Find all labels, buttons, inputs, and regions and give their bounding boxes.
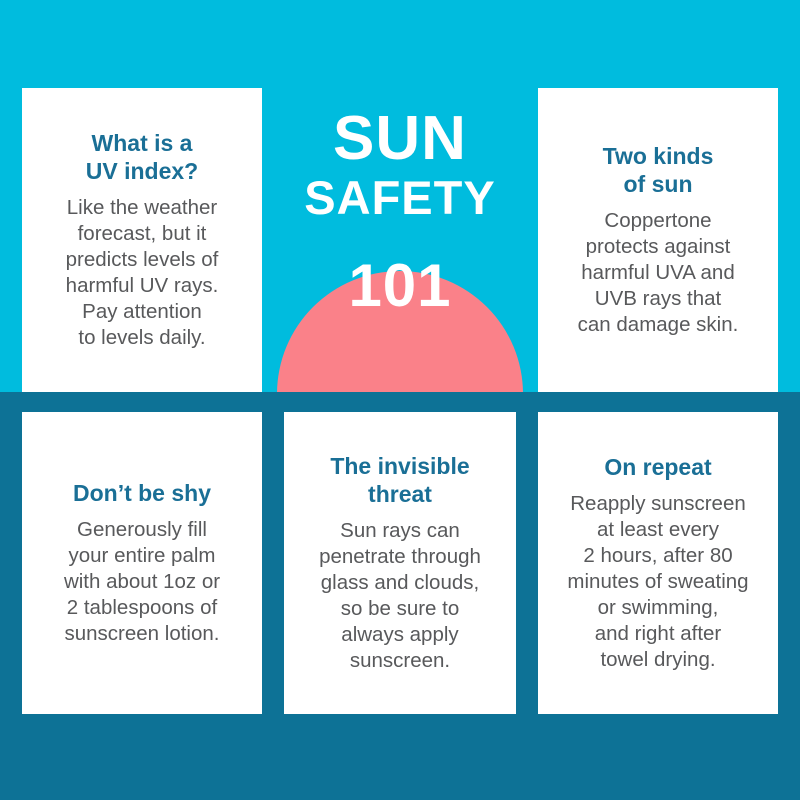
card-uv-index: What is a UV index? Like the weather for… xyxy=(22,88,262,392)
sun-safety-infographic: SUN SAFETY 101 What is a UV index? Like … xyxy=(0,0,800,800)
heading-line: threat xyxy=(330,480,469,508)
card-invisible-threat-heading: The invisible threat xyxy=(330,452,469,508)
card-invisible-threat-body: Sun rays can penetrate through glass and… xyxy=(319,518,481,674)
card-uv-index-heading: What is a UV index? xyxy=(86,129,198,185)
masthead-line-safety: SAFETY xyxy=(262,169,538,228)
body-line: harmful UVA and xyxy=(578,260,739,286)
body-line: and right after xyxy=(567,621,748,647)
body-line: glass and clouds, xyxy=(319,570,481,596)
body-line: protects against xyxy=(578,234,739,260)
body-line: predicts levels of xyxy=(66,247,219,273)
body-line: Pay attention xyxy=(66,299,219,325)
card-on-repeat: On repeat Reapply sunscreen at least eve… xyxy=(538,412,778,714)
body-line: at least every xyxy=(567,517,748,543)
card-invisible-threat: The invisible threat Sun rays can penetr… xyxy=(284,412,516,714)
body-line: always apply xyxy=(319,622,481,648)
body-line: harmful UV rays. xyxy=(66,273,219,299)
body-line: or swimming, xyxy=(567,595,748,621)
card-dont-be-shy-body: Generously fill your entire palm with ab… xyxy=(64,517,220,647)
card-on-repeat-body: Reapply sunscreen at least every 2 hours… xyxy=(567,491,748,673)
body-line: so be sure to xyxy=(319,596,481,622)
heading-line: UV index? xyxy=(86,157,198,185)
heading-line: Don’t be shy xyxy=(73,479,211,507)
body-line: Sun rays can xyxy=(319,518,481,544)
body-line: 2 tablespoons of xyxy=(64,595,220,621)
body-line: 2 hours, after 80 xyxy=(567,543,748,569)
card-dont-be-shy-heading: Don’t be shy xyxy=(73,479,211,507)
body-line: to levels daily. xyxy=(66,325,219,351)
body-line: Reapply sunscreen xyxy=(567,491,748,517)
card-uv-index-body: Like the weather forecast, but it predic… xyxy=(66,195,219,351)
heading-line: of sun xyxy=(603,170,714,198)
body-line: forecast, but it xyxy=(66,221,219,247)
body-line: sunscreen. xyxy=(319,648,481,674)
card-two-kinds-of-sun-heading: Two kinds of sun xyxy=(603,142,714,198)
heading-line: The invisible xyxy=(330,452,469,480)
body-line: can damage skin. xyxy=(578,312,739,338)
body-line: Generously fill xyxy=(64,517,220,543)
heading-line: What is a xyxy=(86,129,198,157)
body-line: minutes of sweating xyxy=(567,569,748,595)
masthead-title: SUN SAFETY 101 xyxy=(262,110,538,316)
body-line: with about 1oz or xyxy=(64,569,220,595)
masthead-line-101: 101 xyxy=(262,256,538,316)
body-line: towel drying. xyxy=(567,647,748,673)
masthead-line-sun: SUN xyxy=(262,110,538,169)
heading-line: Two kinds xyxy=(603,142,714,170)
body-line: your entire palm xyxy=(64,543,220,569)
card-two-kinds-of-sun: Two kinds of sun Coppertone protects aga… xyxy=(538,88,778,392)
card-on-repeat-heading: On repeat xyxy=(604,453,711,481)
body-line: sunscreen lotion. xyxy=(64,621,220,647)
body-line: Like the weather xyxy=(66,195,219,221)
card-dont-be-shy: Don’t be shy Generously fill your entire… xyxy=(22,412,262,714)
card-two-kinds-of-sun-body: Coppertone protects against harmful UVA … xyxy=(578,208,739,338)
heading-line: On repeat xyxy=(604,453,711,481)
body-line: penetrate through xyxy=(319,544,481,570)
body-line: UVB rays that xyxy=(578,286,739,312)
body-line: Coppertone xyxy=(578,208,739,234)
